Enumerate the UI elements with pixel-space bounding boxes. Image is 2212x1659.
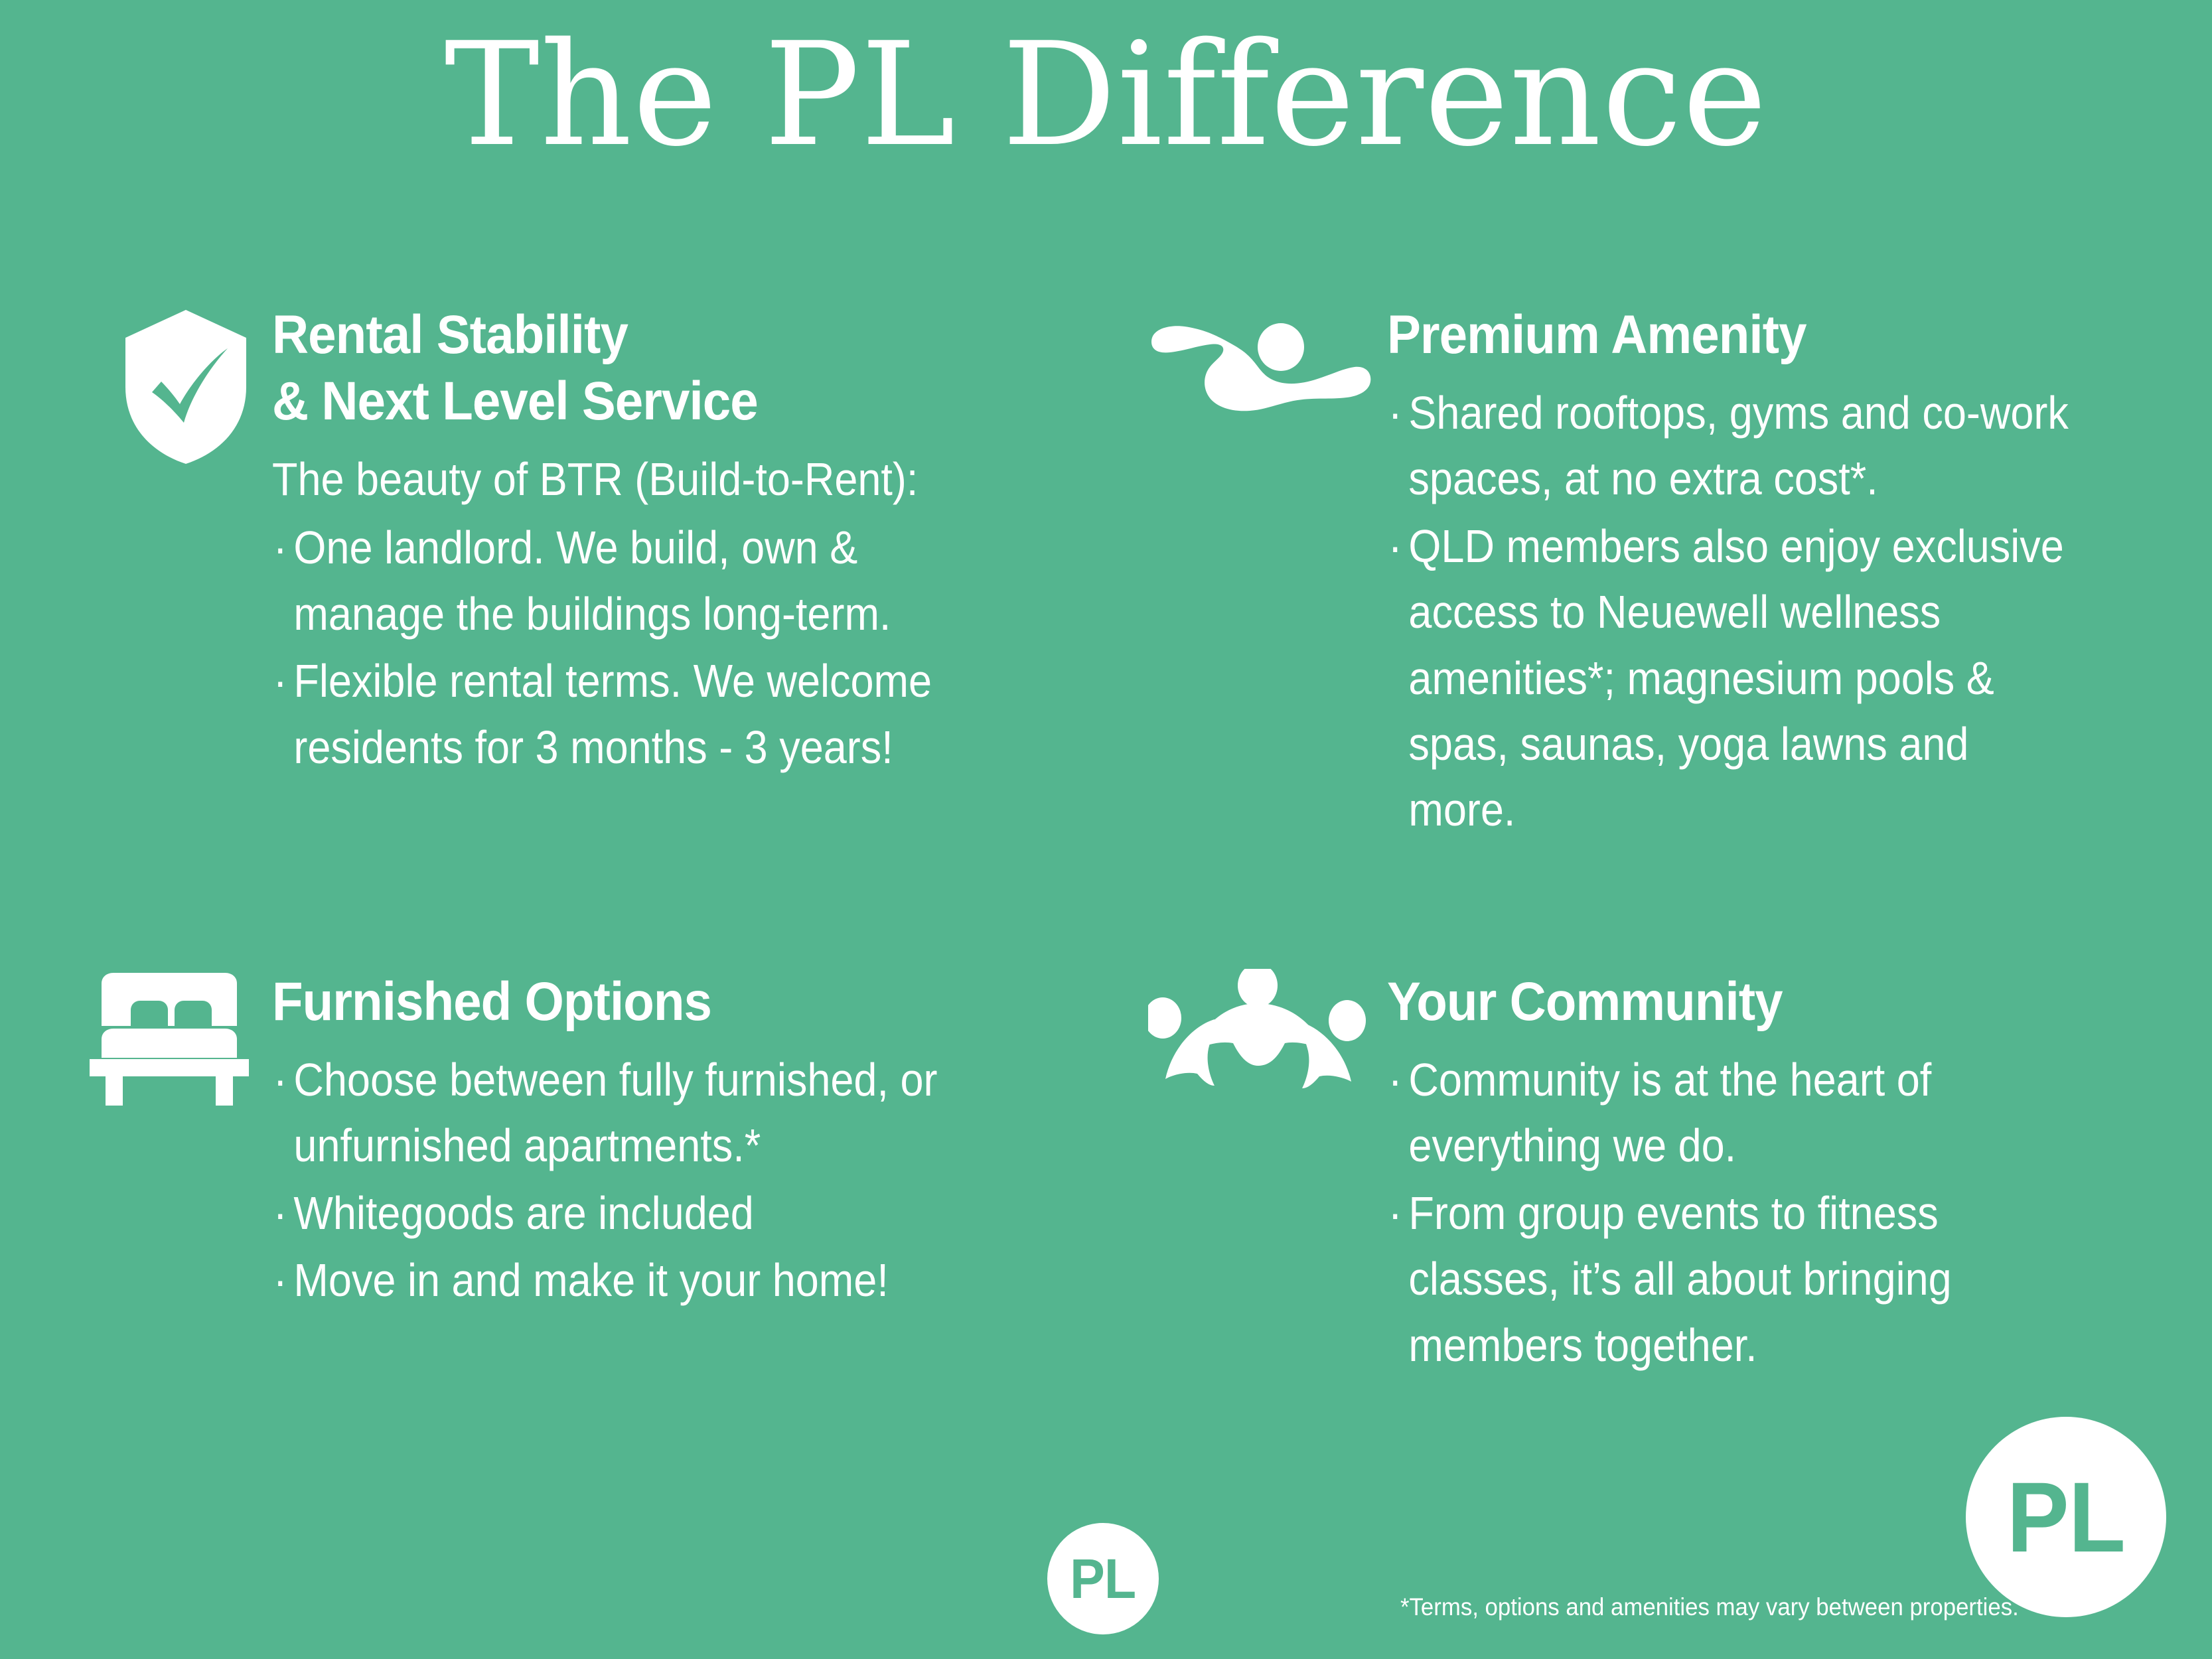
- list-item-text: Choose between fully furnished, or unfur…: [293, 1054, 937, 1171]
- feature-panel-rental-stability: Rental Stability & Next Level Service Th…: [100, 302, 1082, 782]
- pl-logo-large: PL: [1966, 1417, 2166, 1617]
- panel-heading: Furnished Options: [272, 969, 994, 1035]
- list-item: ·One landlord. We build, own & manage th…: [272, 515, 1001, 647]
- bullet-dot-icon: ·: [273, 1248, 287, 1313]
- list-item-text: Whitegoods are included: [293, 1187, 753, 1239]
- bullet-dot-icon: ·: [273, 515, 287, 581]
- list-item-text: Shared rooftops, gyms and co-work spaces…: [1408, 387, 2068, 504]
- panel-bullet-list: ·Shared rooftops, gyms and co-work space…: [1387, 380, 2086, 843]
- list-item-text: Flexible rental terms. We welcome reside…: [293, 655, 932, 772]
- shield-check-icon: [100, 302, 272, 467]
- bullet-dot-icon: ·: [1388, 1181, 1402, 1246]
- list-item-text: QLD members also enjoy exclusive access …: [1408, 520, 2063, 836]
- list-item-text: Community is at the heart of everything …: [1408, 1054, 1931, 1171]
- panel-bullet-list: ·One landlord. We build, own & manage th…: [272, 515, 1001, 780]
- panel-heading: Premium Amenity: [1387, 302, 2109, 368]
- feature-panel-premium-amenity: Premium Amenity ·Shared rooftops, gyms a…: [1128, 302, 2164, 845]
- panel-heading: Rental Stability & Next Level Service: [272, 302, 1025, 435]
- infographic-page: The PL Difference Rental Stability & Nex…: [0, 0, 2212, 1659]
- bullet-dot-icon: ·: [273, 648, 287, 714]
- bullet-dot-icon: ·: [273, 1047, 287, 1113]
- list-item: ·Move in and make it your home!: [272, 1248, 971, 1313]
- panel-body: Rental Stability & Next Level Service Th…: [272, 302, 1082, 782]
- list-item: ·Flexible rental terms. We welcome resid…: [272, 648, 1001, 780]
- panel-heading: Your Community: [1387, 969, 2109, 1035]
- pl-logo-large-text: PL: [2007, 1460, 2125, 1575]
- swimmer-icon: [1128, 302, 1387, 415]
- list-item: ·Shared rooftops, gyms and co-work space…: [1387, 380, 2086, 512]
- feature-panel-your-community: Your Community ·Community is at the hear…: [1128, 969, 2164, 1380]
- list-item: ·Community is at the heart of everything…: [1387, 1047, 2086, 1179]
- feature-panel-furnished-options: Furnished Options ·Choose between fully …: [66, 969, 1049, 1315]
- panel-body: Premium Amenity ·Shared rooftops, gyms a…: [1387, 302, 2164, 845]
- pl-logo-small: PL: [1047, 1523, 1159, 1634]
- bullet-dot-icon: ·: [1388, 380, 1402, 446]
- panel-bullet-list: ·Community is at the heart of everything…: [1387, 1047, 2086, 1378]
- panel-body: Your Community ·Community is at the hear…: [1387, 969, 2164, 1380]
- pl-logo-small-text: PL: [1070, 1547, 1136, 1611]
- list-item: ·Whitegoods are included: [272, 1181, 971, 1246]
- panel-lead: The beauty of BTR (Build-to-Rent):: [272, 447, 1001, 512]
- bullet-dot-icon: ·: [1388, 1047, 1402, 1113]
- bullet-dot-icon: ·: [1388, 514, 1402, 579]
- list-item-text: From group events to fitness classes, it…: [1408, 1187, 1951, 1371]
- disclaimer-text: *Terms, options and amenities may vary b…: [1400, 1593, 2019, 1622]
- panel-bullet-list: ·Choose between fully furnished, or unfu…: [272, 1047, 971, 1314]
- list-item-text: Move in and make it your home!: [293, 1254, 888, 1306]
- feature-grid: Rental Stability & Next Level Service Th…: [0, 302, 2212, 1430]
- bullet-dot-icon: ·: [273, 1181, 287, 1246]
- bed-icon: [66, 969, 272, 1106]
- list-item-text: One landlord. We build, own & manage the…: [293, 522, 891, 639]
- list-item: ·From group events to fitness classes, i…: [1387, 1181, 2086, 1378]
- panel-body: Furnished Options ·Choose between fully …: [272, 969, 1049, 1315]
- page-title: The PL Difference: [0, 20, 2212, 170]
- list-item: ·QLD members also enjoy exclusive access…: [1387, 514, 2086, 843]
- list-item: ·Choose between fully furnished, or unfu…: [272, 1047, 971, 1179]
- community-people-icon: [1128, 969, 1387, 1095]
